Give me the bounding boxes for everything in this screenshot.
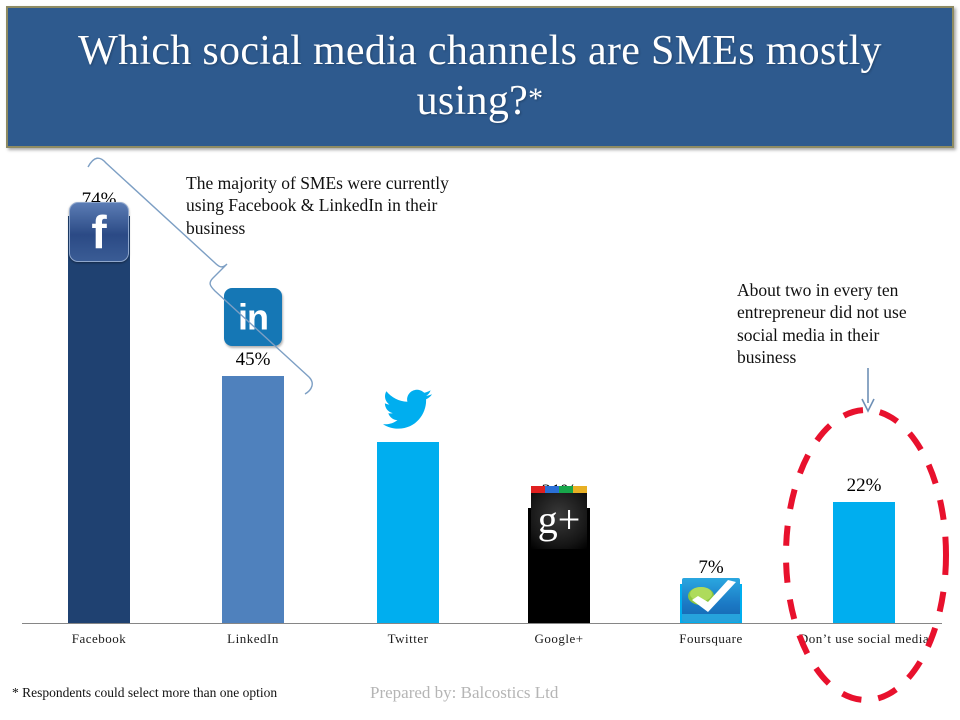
- bar-googleplus[interactable]: g+: [528, 508, 590, 623]
- annotation-right: About two in every ten entrepreneur did …: [737, 279, 943, 369]
- chart-plot-area: 74% f Facebook 45% in LinkedIn 33%: [0, 150, 960, 720]
- bar-value-linkedin: 45%: [196, 349, 310, 371]
- bar-facebook[interactable]: f: [68, 216, 130, 623]
- bar-value-foursquare: 7%: [654, 557, 768, 579]
- google-plus-glyph: g+: [538, 500, 581, 540]
- bar-foursquare[interactable]: [680, 584, 742, 623]
- title-banner: Which social media channels are SMEs mos…: [6, 6, 954, 148]
- bar-linkedin[interactable]: in: [222, 376, 284, 623]
- title-asterisk: *: [528, 82, 543, 115]
- bar-no-social-media[interactable]: [833, 502, 895, 623]
- twitter-bird-icon: [380, 384, 436, 436]
- footnote-text: * Respondents could select more than one…: [12, 685, 277, 701]
- x-axis-line: [22, 623, 942, 624]
- linkedin-icon: in: [224, 288, 282, 346]
- bar-value-no-social-media: 22%: [807, 475, 921, 497]
- foursquare-icon: [682, 578, 740, 622]
- credit-text: Prepared by: Balcostics Ltd: [370, 683, 558, 703]
- facebook-icon: f: [69, 202, 129, 262]
- slide-canvas: Which social media channels are SMEs mos…: [0, 0, 960, 720]
- google-plus-badge: g+: [531, 493, 587, 549]
- x-tick-label-twitter: Twitter: [333, 631, 483, 647]
- bar-twitter[interactable]: [377, 442, 439, 623]
- page-title: Which social media channels are SMEs mos…: [8, 27, 952, 126]
- x-tick-label-no-social-media: Don’t use social media: [789, 631, 939, 647]
- google-plus-icon: g+: [528, 486, 590, 549]
- title-main: Which social media channels are SMEs mos…: [78, 28, 882, 124]
- x-tick-label-facebook: Facebook: [24, 631, 174, 647]
- annotation-left: The majority of SMEs were currently usin…: [186, 172, 456, 239]
- linkedin-in-glyph: in: [238, 300, 268, 336]
- x-tick-label-linkedin: LinkedIn: [178, 631, 328, 647]
- facebook-f-glyph: f: [91, 209, 106, 255]
- x-tick-label-googleplus: Google+: [484, 631, 634, 647]
- google-color-stripe: [531, 486, 587, 493]
- x-tick-label-foursquare: Foursquare: [636, 631, 786, 647]
